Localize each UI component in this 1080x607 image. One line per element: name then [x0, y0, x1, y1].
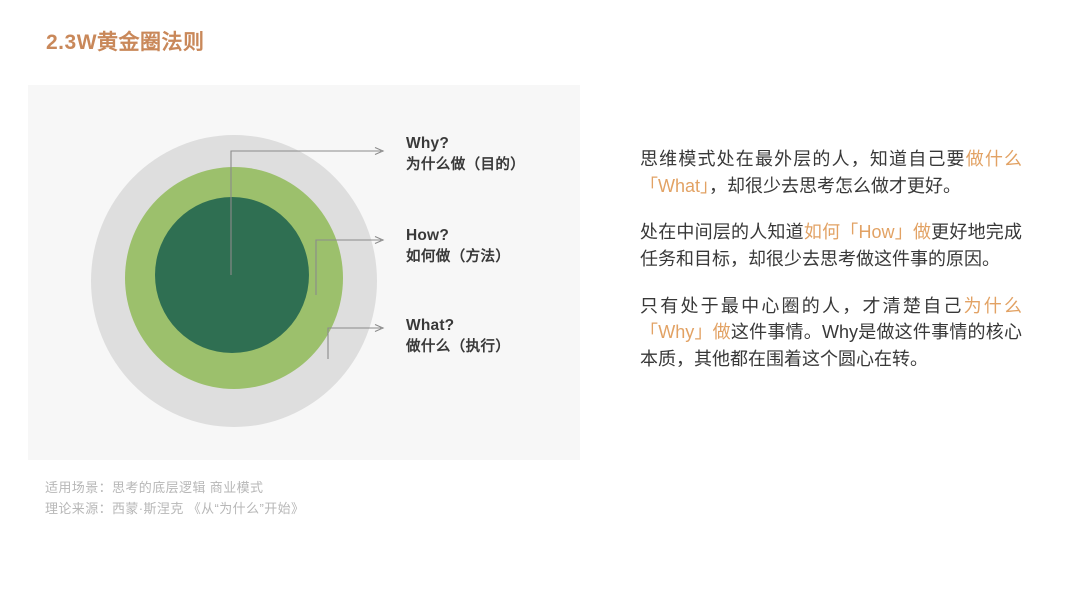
description-text-block: 思维模式处在最外层的人，知道自己要做什么「What」，却很少去思考怎么做才更好。…	[640, 146, 1022, 372]
body-text: 处在中间层的人知道	[640, 222, 804, 242]
golden-circle-diagram-panel: Why? 为什么做（目的） How? 如何做（方法） What? 做什么（执行）	[28, 85, 580, 460]
footer-line-source: 理论来源：西蒙·斯涅克 《从“为什么”开始》	[45, 499, 304, 520]
body-text: ，却很少去思考怎么做才更好。	[709, 176, 961, 196]
callout-why-en: Why?	[406, 133, 525, 155]
callout-how-en: How?	[406, 225, 510, 247]
page-title: 2.3W黄金圈法则	[46, 26, 205, 56]
slide-canvas: 2.3W黄金圈法则 Why? 为什么做（目的） How? 如何做（方法） Wha…	[0, 0, 1080, 607]
footer-line-scenario: 适用场景：思考的底层逻辑 商业模式	[45, 478, 304, 499]
body-text: 思维模式处在最外层的人，知道自己要	[640, 149, 966, 169]
callout-why-cn: 为什么做（目的）	[406, 155, 525, 176]
footer-notes: 适用场景：思考的底层逻辑 商业模式 理论来源：西蒙·斯涅克 《从“为什么”开始》	[45, 478, 304, 520]
callout-how: How? 如何做（方法）	[406, 225, 510, 268]
callout-why: Why? 为什么做（目的）	[406, 133, 525, 176]
leader-line-how	[316, 240, 381, 295]
callout-how-cn: 如何做（方法）	[406, 247, 510, 268]
body-text: 只有处于最中心圈的人，才清楚自己	[640, 296, 964, 316]
description-paragraph: 只有处于最中心圈的人，才清楚自己为什么「Why」做这件事情。Why是做这件事情的…	[640, 293, 1022, 373]
leader-line-what	[328, 328, 381, 359]
description-paragraph: 处在中间层的人知道如何「How」做更好地完成任务和目标，却很少去思考做这件事的原…	[640, 219, 1022, 272]
highlighted-text: 如何「How」做	[804, 222, 931, 242]
description-paragraph: 思维模式处在最外层的人，知道自己要做什么「What」，却很少去思考怎么做才更好。	[640, 146, 1022, 199]
leader-line-why	[231, 151, 381, 275]
callout-what-en: What?	[406, 315, 510, 337]
callout-what: What? 做什么（执行）	[406, 315, 510, 358]
callout-what-cn: 做什么（执行）	[406, 337, 510, 358]
